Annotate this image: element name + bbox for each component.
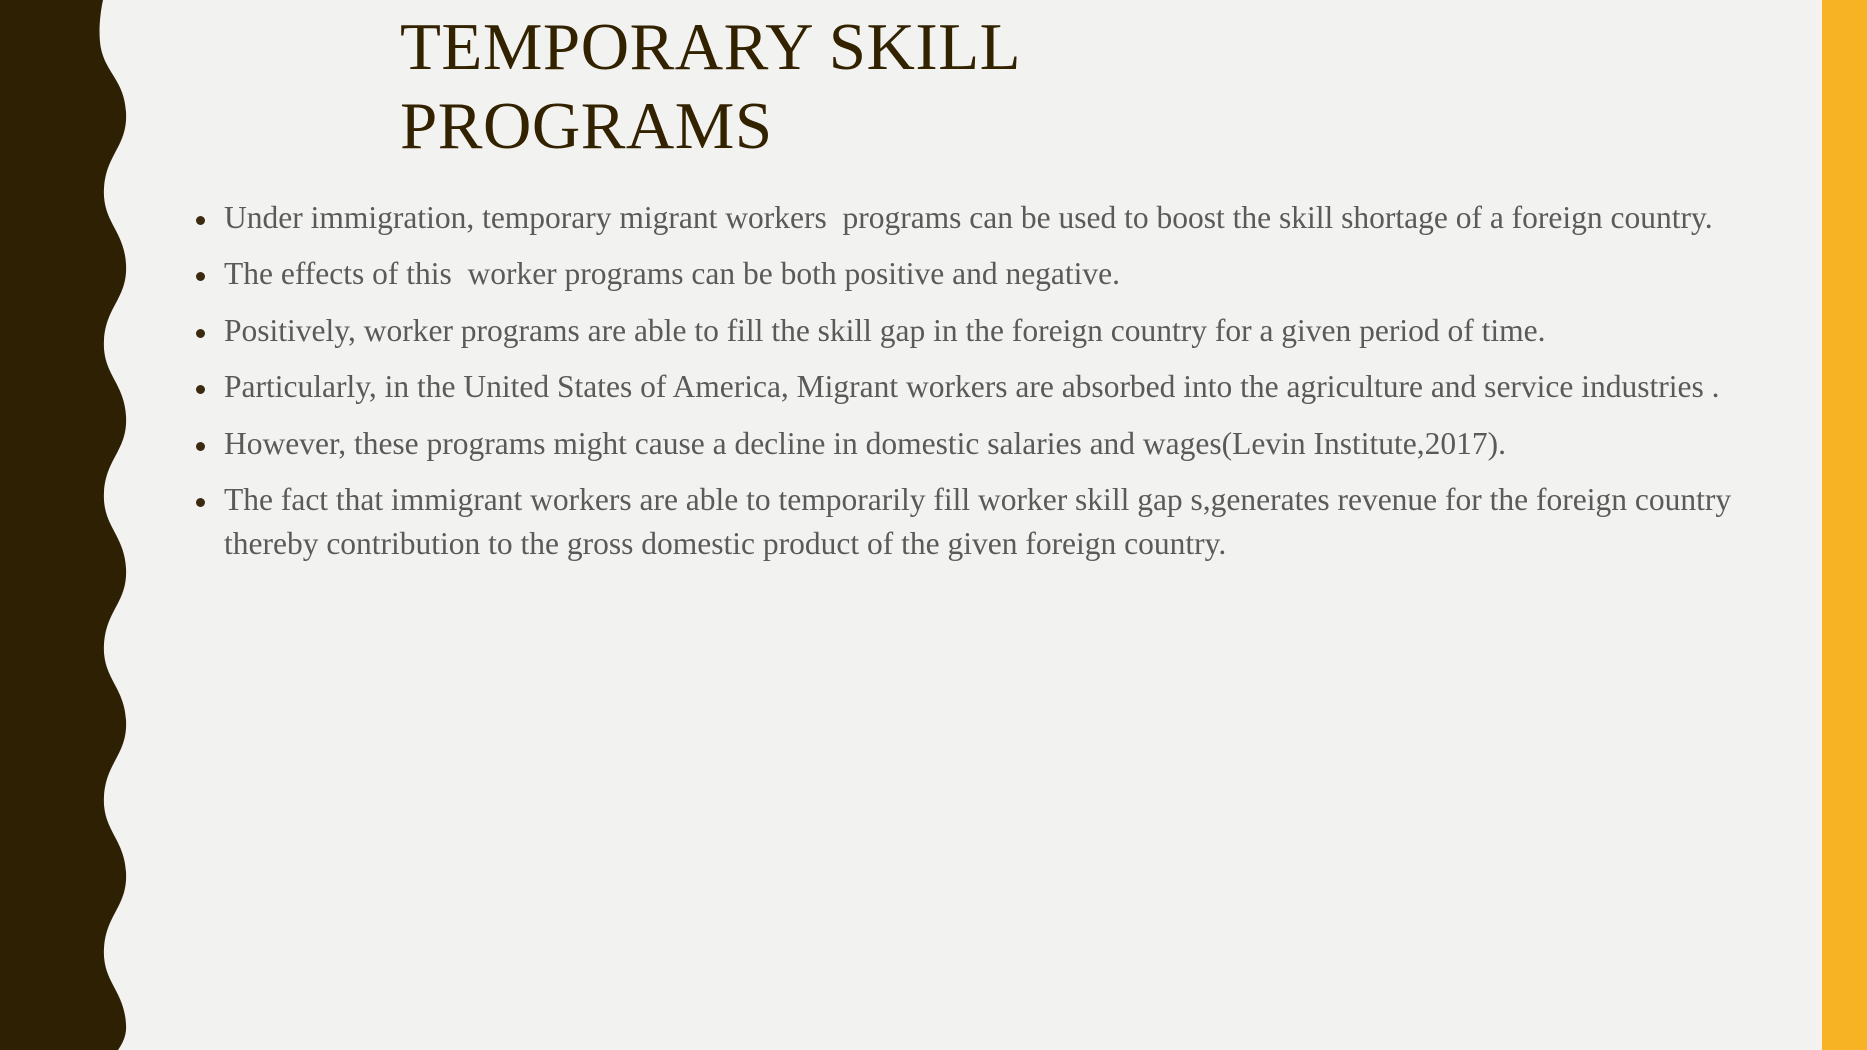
bullet-list: Under immigration, temporary migrant wor… [196,196,1796,579]
list-item: However, these programs might cause a de… [196,422,1796,466]
bullet-dot-icon [196,365,224,394]
bullet-dot-icon [196,422,224,451]
list-item: The fact that immigrant workers are able… [196,478,1796,567]
bullet-dot-icon [196,252,224,281]
list-item: The effects of this worker programs can … [196,252,1796,296]
wave-shape-path [0,0,126,1050]
list-item: Under immigration, temporary migrant wor… [196,196,1796,240]
list-item-text: Under immigration, temporary migrant wor… [224,196,1796,240]
list-item-text: The fact that immigrant workers are able… [224,478,1796,567]
list-item: Positively, worker programs are able to … [196,309,1796,353]
bullet-dot-icon [196,478,224,507]
bullet-dot-icon [196,196,224,225]
list-item-text: Particularly, in the United States of Am… [224,365,1796,409]
bullet-dot-icon [196,309,224,338]
list-item: Particularly, in the United States of Am… [196,365,1796,409]
left-wavy-band-decoration [0,0,150,1050]
orange-accent-bar [1822,0,1867,1050]
list-item-text: Positively, worker programs are able to … [224,309,1796,353]
list-item-text: The effects of this worker programs can … [224,252,1796,296]
presentation-slide: TEMPORARY SKILL PROGRAMS Under immigrati… [0,0,1867,1050]
list-item-text: However, these programs might cause a de… [224,422,1796,466]
slide-title: TEMPORARY SKILL PROGRAMS [400,8,1500,166]
